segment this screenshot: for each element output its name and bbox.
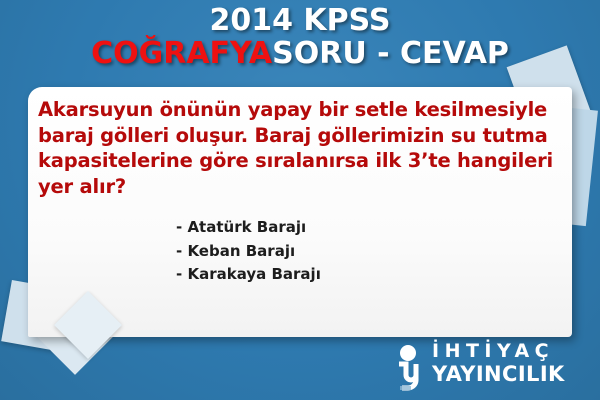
slide-canvas: 2014 KPSS COĞRAFYASORU - CEVAP Akarsuyun… [0, 0, 600, 400]
title-year-exam: 2014 KPSS [0, 6, 600, 37]
title-soru-cevap: SORU - CEVAP [272, 36, 509, 71]
logo-line-yayincilik: YAYINCILIK [432, 364, 565, 385]
title-subject-line: COĞRAFYASORU - CEVAP [0, 39, 600, 70]
person-figure-icon [388, 344, 428, 392]
question-text: Akarsuyun önünün yapay bir setle kesilme… [38, 97, 560, 200]
title-subject: COĞRAFYA [91, 36, 272, 71]
list-item: - Karakaya Barajı [176, 263, 321, 287]
logo-line-ihtiyac: İHTİYAÇ [432, 342, 565, 361]
logo-wordmark: İHTİYAÇ YAYINCILIK [432, 342, 565, 385]
header: 2014 KPSS COĞRAFYASORU - CEVAP [0, 6, 600, 69]
list-item: - Atatürk Barajı [176, 216, 321, 240]
publisher-logo: İHTİYAÇ YAYINCILIK [388, 342, 588, 394]
answer-list: - Atatürk Barajı - Keban Barajı - Karaka… [176, 216, 321, 287]
list-item: - Keban Barajı [176, 240, 321, 264]
